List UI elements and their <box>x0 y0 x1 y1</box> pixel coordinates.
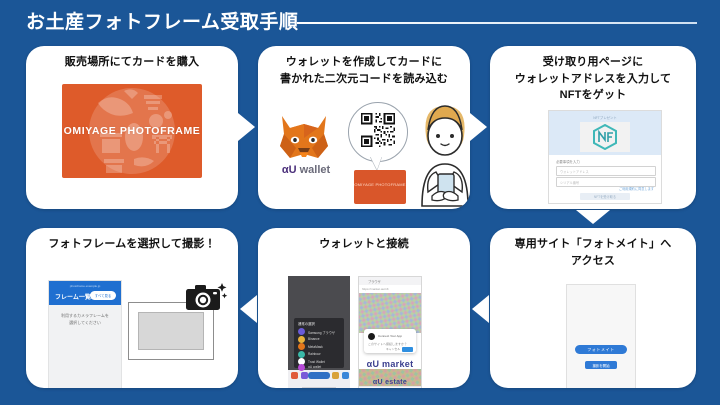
arrow-step1-to-step2 <box>238 113 255 141</box>
step-card-5: ウォレットと接続 通常の選択 <box>258 228 470 388</box>
step-card-6: 専用サイト「フォトメイト」へ アクセス フォトメイト 撮影を開始 <box>490 228 696 388</box>
wallet-dialog-title: 通常の選択 <box>298 321 315 326</box>
qr-code-icon <box>361 113 395 147</box>
mosaic-art-top <box>359 293 421 333</box>
terms-link[interactable]: ご利用規約に同意します <box>619 186 654 191</box>
speech-bubble-tail <box>370 156 382 170</box>
frame-list-body-text: 利用するカメラフレームを 選択してください <box>49 313 121 327</box>
wallet-option-1-icon <box>298 336 305 343</box>
photomate-phone-screenshot: フォトメイト 撮影を開始 <box>566 284 636 388</box>
frame-list-body-line1: 利用するカメラフレームを <box>49 313 121 320</box>
wallet-option-2[interactable]: MetaMask <box>298 343 342 351</box>
page-title: お土産フォトフレーム受取手順 <box>26 7 298 34</box>
photomate-secondary-button[interactable]: 撮影を開始 <box>585 361 617 369</box>
wallet-picker-page-bottom <box>288 370 350 388</box>
toast-body: このサイトへ接続しますか？ <box>368 342 407 346</box>
app-icon-2 <box>301 372 308 379</box>
frame-list-pill-label: すべて見る <box>90 293 116 298</box>
nft-hexagon-icon <box>592 124 618 150</box>
wallet-option-0-label: Samsung ブラウザ <box>308 330 335 335</box>
step-2-title: ウォレットを作成してカードに 書かれた二次元コードを読み込む <box>258 54 470 87</box>
nft-logo-box <box>580 122 630 152</box>
nft-hero-banner: NFTプレゼント <box>549 111 661 155</box>
step-5-body: 通常の選択 Samsung ブラウザ Binance MetaMask <box>258 254 470 388</box>
toast-ok-button[interactable] <box>402 347 413 352</box>
step-5-title: ウォレットと接続 <box>258 236 470 253</box>
wallet-option-0[interactable]: Samsung ブラウザ <box>298 328 342 336</box>
wallet-option-0-icon <box>298 328 305 335</box>
frame-list-pill-button[interactable]: すべて見る <box>90 291 116 300</box>
au-market-brand: αU market <box>359 359 421 369</box>
nft-form-label: 必要事項を入力 <box>556 159 580 164</box>
claim-nft-button[interactable]: NFTを受け取る <box>580 193 630 200</box>
au-wallet-brand: αU <box>282 164 297 176</box>
step-1-body: OMIYAGE PHOTOFRAME <box>26 72 238 209</box>
au-estate-brand: αU estate <box>359 379 421 386</box>
wallet-option-3-label: Rainbow <box>308 352 320 356</box>
step-2-title-line1: ウォレットを作成してカードに <box>264 54 464 71</box>
step-3-body: NFTプレゼント 必要事項を入力 ウォレットアドレス シリアル番号 <box>490 80 696 209</box>
frame-list-url: photoframe.example.jp <box>49 284 121 288</box>
nft-claim-page-screenshot: NFTプレゼント 必要事項を入力 ウォレットアドレス シリアル番号 <box>548 110 662 204</box>
person-with-phone-icon <box>408 100 470 208</box>
toast-title: Connect Your App <box>378 334 402 338</box>
frame-list-body-line2: 選択してください <box>49 320 121 327</box>
camera-icon <box>184 282 228 312</box>
au-wallet-word: wallet <box>297 164 331 176</box>
step-card-1: 販売場所にてカードを購入 <box>26 46 238 209</box>
step-6-title-line1: 専用サイト「フォトメイト」へ <box>496 236 690 253</box>
step-card-3: 受け取り用ページに ウォレットアドレスを入力して NFTをゲット NFTプレゼン… <box>490 46 696 209</box>
browser-tab-bar: ブラウザ <box>359 277 421 285</box>
wallet-picker-phone-screenshot: 通常の選択 Samsung ブラウザ Binance MetaMask <box>288 276 350 388</box>
app-icon-3 <box>332 372 339 379</box>
photo-frame-inner <box>138 312 204 350</box>
browser-tab-label: ブラウザ <box>368 279 381 284</box>
frame-list-header: photoframe.example.jp フレーム一覧 すべて見る <box>49 281 121 305</box>
serial-number-placeholder: シリアル番号 <box>560 180 579 185</box>
frame-list-phone-screenshot: photoframe.example.jp フレーム一覧 すべて見る 利用するカ… <box>48 280 122 388</box>
step-1-title: 販売場所にてカードを購入 <box>26 54 238 71</box>
step-3-title-line1: 受け取り用ページに <box>496 54 690 71</box>
photomate-primary-button[interactable]: フォトメイト <box>575 345 627 354</box>
frame-list-title: フレーム一覧 <box>55 292 91 301</box>
arrow-step5-to-step4 <box>240 295 257 323</box>
wallet-address-input[interactable]: ウォレットアドレス <box>556 166 656 176</box>
wallet-option-1-label: Binance <box>308 337 320 341</box>
wallet-option-3[interactable]: Rainbow <box>298 351 342 359</box>
header-divider <box>297 22 697 24</box>
slide-header: お土産フォトフレーム受取手順 <box>0 0 720 40</box>
wallet-option-5-icon <box>298 364 305 371</box>
step-2-title-line2: 書かれた二次元コードを読み込む <box>264 71 464 88</box>
wallet-selection-dialog: 通常の選択 Samsung ブラウザ Binance MetaMask <box>294 318 344 368</box>
step-2-body: αU wallet <box>258 88 470 209</box>
app-icon-1 <box>291 372 298 379</box>
nft-claim-form: 必要事項を入力 ウォレットアドレス シリアル番号 ご利用規約に同意します NFT… <box>549 155 661 203</box>
fox-logo-icon <box>278 114 330 162</box>
wallet-option-3-icon <box>298 351 305 358</box>
arrow-step3-to-step6 <box>576 210 610 224</box>
au-wallet-label: αU wallet <box>266 164 346 176</box>
mini-card-label: OMIYAGE PHOTOFRAME <box>354 182 406 187</box>
mini-omiyage-card: OMIYAGE PHOTOFRAME <box>354 170 406 204</box>
toast-cancel-button[interactable]: キャンセル <box>386 347 400 351</box>
arrow-step6-to-step5 <box>472 295 489 323</box>
nft-hero-caption: NFTプレゼント <box>549 115 661 120</box>
step-card-4: フォトフレームを選択して撮影！ photoframe.example.jp フレ… <box>26 228 238 388</box>
step-4-title: フォトフレームを選択して撮影！ <box>26 236 238 253</box>
claim-nft-button-label: NFTを受け取る <box>580 194 630 199</box>
browser-url-text: https://market.au/nft <box>362 287 389 291</box>
app-icon-4 <box>342 372 349 379</box>
connect-toast-dialog: Connect Your App このサイトへ接続しますか？ キャンセル <box>364 329 416 353</box>
arrow-step2-to-step3 <box>470 113 487 141</box>
photomate-primary-button-label: フォトメイト <box>575 347 627 353</box>
browser-nav-bar <box>359 386 421 388</box>
wallet-picker-connect-button[interactable] <box>308 372 330 379</box>
au-market-phone-screenshot: ブラウザ https://market.au/nft <box>358 276 422 388</box>
omiyage-photoframe-card: OMIYAGE PHOTOFRAME <box>62 84 202 178</box>
step-card-2: ウォレットを作成してカードに 書かれた二次元コードを読み込む αU wallet <box>258 46 470 209</box>
omiyage-card-label: OMIYAGE PHOTOFRAME <box>62 125 202 137</box>
step-4-body: photoframe.example.jp フレーム一覧 すべて見る 利用するカ… <box>26 254 238 388</box>
wallet-picker-home-indicator <box>302 387 336 389</box>
wallet-option-1[interactable]: Binance <box>298 336 342 344</box>
photomate-secondary-button-label: 撮影を開始 <box>585 363 617 368</box>
wallet-picker-icon-row <box>291 372 308 379</box>
wallet-picker-icon-row-2 <box>332 372 349 379</box>
wallet-option-5-label: αU wallet <box>308 365 321 369</box>
slide-root: お土産フォトフレーム受取手順 販売場所にてカードを購入 <box>0 0 720 405</box>
wallet-address-placeholder: ウォレットアドレス <box>560 169 589 174</box>
wallet-option-5[interactable]: αU wallet <box>298 364 342 372</box>
wallet-option-2-icon <box>298 343 305 350</box>
toast-app-icon <box>368 333 375 340</box>
wallet-option-2-label: MetaMask <box>308 345 323 349</box>
step-6-body: フォトメイト 撮影を開始 <box>490 258 696 388</box>
